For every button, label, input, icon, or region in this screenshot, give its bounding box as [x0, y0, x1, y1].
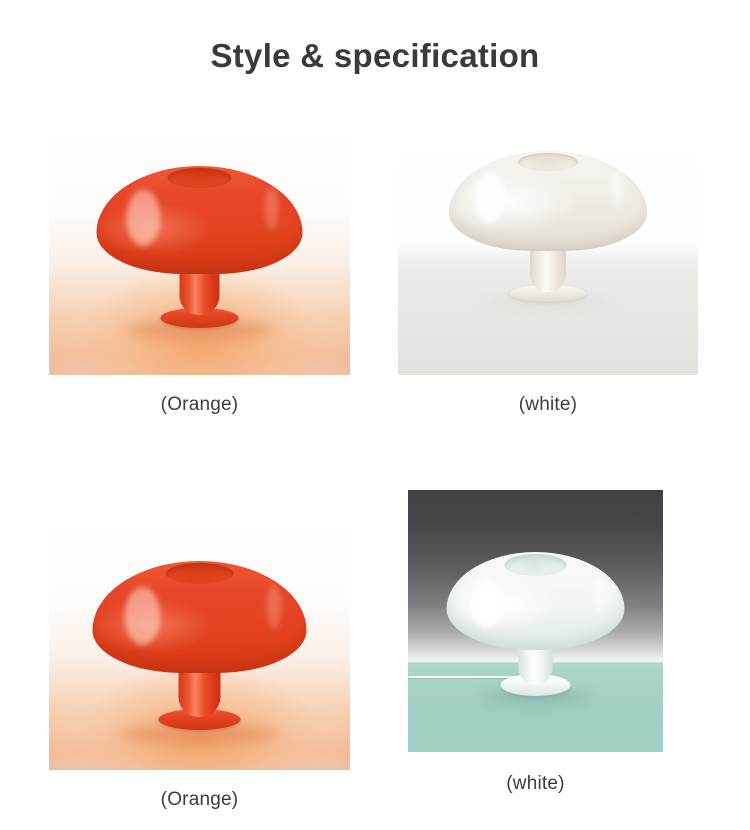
lamp-illustration-white	[408, 490, 663, 752]
product-caption: (white)	[398, 394, 698, 416]
lamp-power-cord	[408, 676, 520, 678]
lamp-highlight-right	[265, 188, 279, 230]
product-image-orange-lamp[interactable]	[49, 533, 350, 770]
lamp-highlight-left	[475, 173, 505, 223]
lamp-highlight-right	[611, 171, 623, 209]
product-image-white-lamp-teal[interactable]	[408, 490, 663, 752]
lamp-top-dimple	[168, 168, 232, 188]
lamp-top-dimple	[518, 153, 578, 171]
lamp-top-dimple	[505, 554, 567, 576]
product-caption: (Orange)	[49, 789, 350, 811]
lamp-highlight-left	[125, 587, 161, 645]
lamp-highlight-left	[127, 190, 161, 246]
product-card-white-bottom[interactable]: (white)	[408, 490, 663, 795]
lamp-illustration-orange	[49, 138, 350, 375]
product-caption: (white)	[408, 773, 663, 795]
page-title: Style & specification	[0, 36, 750, 76]
lamp-highlight-right	[593, 576, 606, 612]
product-caption: (Orange)	[49, 394, 350, 416]
lamp-highlight-right	[267, 585, 282, 629]
product-card-orange-bottom[interactable]: (Orange)	[49, 533, 350, 811]
lamp-top-dimple	[166, 563, 234, 584]
lamp-highlight-left	[471, 580, 503, 628]
product-card-orange-top[interactable]: (Orange)	[49, 138, 350, 416]
product-card-white-top[interactable]: (white)	[398, 138, 698, 416]
lamp-illustration-white	[398, 138, 698, 375]
lamp-illustration-orange	[49, 533, 350, 770]
product-image-white-lamp[interactable]	[398, 138, 698, 375]
product-image-orange-lamp[interactable]	[49, 138, 350, 375]
